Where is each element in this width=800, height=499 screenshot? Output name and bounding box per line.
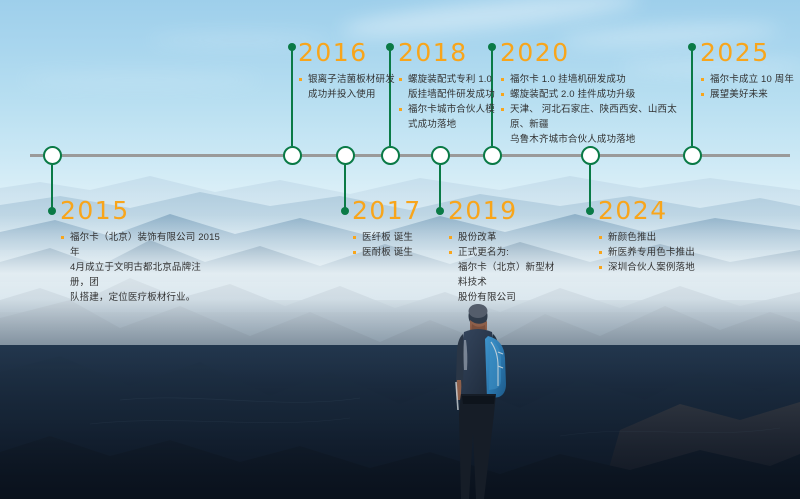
timeline-node-2020[interactable] xyxy=(483,146,502,165)
bullet-list-2019: 股份改革 正式更名为: 福尔卡（北京）新型材料技术 股份有限公司 xyxy=(448,230,558,305)
bullet-item: 螺旋装配式专利 1.0 xyxy=(398,72,498,87)
bullet-list-2017: 医纤板 诞生 医耐板 诞生 xyxy=(352,230,442,260)
bullet-item: 式成功落地 xyxy=(398,117,498,132)
timeline-node-2015[interactable] xyxy=(43,146,62,165)
bullet-item: 福尔卡（北京）装饰有限公司 2015 年 xyxy=(60,230,220,260)
bullet-item: 股份有限公司 xyxy=(448,290,558,305)
bullet-item: 螺旋装配式 2.0 挂件成功升级 xyxy=(500,87,696,102)
year-label-2025: 2025 xyxy=(700,40,796,65)
year-label-2015: 2015 xyxy=(60,198,220,223)
year-label-2024: 2024 xyxy=(598,198,718,223)
year-label-2017: 2017 xyxy=(352,198,442,223)
timeline-stem-2017 xyxy=(344,165,347,210)
bullet-item: 医耐板 诞生 xyxy=(352,245,442,260)
bullet-item: 福尔卡成立 10 周年 xyxy=(700,72,796,87)
bullet-list-2024: 新颜色推出 新医养专用色卡推出 深圳合伙人案例落地 xyxy=(598,230,718,275)
timeline-node-2018[interactable] xyxy=(381,146,400,165)
timeline-stem-cap-2016 xyxy=(288,43,296,51)
timeline-entry-2017: 2017 医纤板 诞生 医耐板 诞生 xyxy=(352,198,442,260)
bullet-item: 银离子洁菌板材研发 xyxy=(298,72,406,87)
timeline-entry-2025: 2025 福尔卡成立 10 周年 展望美好未来 xyxy=(700,40,796,102)
timeline-entry-2020: 2020 福尔卡 1.0 挂墙机研发成功 螺旋装配式 2.0 挂件成功升级 天津… xyxy=(500,40,696,147)
bullet-item: 成功并投入使用 xyxy=(298,87,406,102)
timeline-infographic: 2015 福尔卡（北京）装饰有限公司 2015 年 4月成立于文明古都北京品牌注… xyxy=(0,0,800,499)
bullet-item: 版挂墙配件研发成功 xyxy=(398,87,498,102)
timeline-node-2024[interactable] xyxy=(581,146,600,165)
timeline-node-2025[interactable] xyxy=(683,146,702,165)
timeline-node-2016[interactable] xyxy=(283,146,302,165)
timeline-stem-cap-2017 xyxy=(341,207,349,215)
bullet-list-2018: 螺旋装配式专利 1.0 版挂墙配件研发成功 福尔卡城市合伙人模 式成功落地 xyxy=(398,72,498,132)
timeline-entry-2018: 2018 螺旋装配式专利 1.0 版挂墙配件研发成功 福尔卡城市合伙人模 式成功… xyxy=(398,40,498,132)
bullet-item: 正式更名为: xyxy=(448,245,558,260)
timeline-entry-2024: 2024 新颜色推出 新医养专用色卡推出 深圳合伙人案例落地 xyxy=(598,198,718,275)
timeline-stem-2024 xyxy=(589,165,592,210)
bullet-item: 医纤板 诞生 xyxy=(352,230,442,245)
timeline-stem-cap-2024 xyxy=(586,207,594,215)
bullet-list-2025: 福尔卡成立 10 周年 展望美好未来 xyxy=(700,72,796,102)
bullet-item: 福尔卡（北京）新型材料技术 xyxy=(448,260,558,290)
bullet-list-2015: 福尔卡（北京）装饰有限公司 2015 年 4月成立于文明古都北京品牌注册，团 队… xyxy=(60,230,220,305)
foreground-shadow xyxy=(0,300,800,499)
timeline-stem-2015 xyxy=(51,165,54,210)
timeline-axis xyxy=(30,154,790,157)
bullet-item: 天津、 河北石家庄、陕西西安、山西太原、新疆 xyxy=(500,102,696,132)
year-label-2020: 2020 xyxy=(500,40,696,65)
bullet-item: 新医养专用色卡推出 xyxy=(598,245,718,260)
bullet-item: 展望美好未来 xyxy=(700,87,796,102)
timeline-node-2017[interactable] xyxy=(336,146,355,165)
timeline-node-2019[interactable] xyxy=(431,146,450,165)
bullet-item: 股份改革 xyxy=(448,230,558,245)
timeline-stem-2016 xyxy=(291,46,294,146)
bullet-item: 福尔卡 1.0 挂墙机研发成功 xyxy=(500,72,696,87)
year-label-2019: 2019 xyxy=(448,198,558,223)
bullet-list-2016: 银离子洁菌板材研发 成功并投入使用 xyxy=(298,72,406,102)
timeline-stem-cap-2015 xyxy=(48,207,56,215)
bullet-item: 4月成立于文明古都北京品牌注册，团 xyxy=(60,260,220,290)
timeline-entry-2015: 2015 福尔卡（北京）装饰有限公司 2015 年 4月成立于文明古都北京品牌注… xyxy=(60,198,220,305)
bullet-item: 新颜色推出 xyxy=(598,230,718,245)
bullet-item: 队搭建，定位医疗板材行业。 xyxy=(60,290,220,305)
hiker-figure xyxy=(428,300,538,499)
bullet-item: 乌鲁木齐城市合伙人成功落地 xyxy=(500,132,696,147)
bullet-item: 福尔卡城市合伙人模 xyxy=(398,102,498,117)
timeline-entry-2016: 2016 银离子洁菌板材研发 成功并投入使用 xyxy=(298,40,406,102)
year-label-2016: 2016 xyxy=(298,40,406,65)
bullet-list-2020: 福尔卡 1.0 挂墙机研发成功 螺旋装配式 2.0 挂件成功升级 天津、 河北石… xyxy=(500,72,696,147)
timeline-entry-2019: 2019 股份改革 正式更名为: 福尔卡（北京）新型材料技术 股份有限公司 xyxy=(448,198,558,305)
bullet-item: 深圳合伙人案例落地 xyxy=(598,260,718,275)
year-label-2018: 2018 xyxy=(398,40,498,65)
